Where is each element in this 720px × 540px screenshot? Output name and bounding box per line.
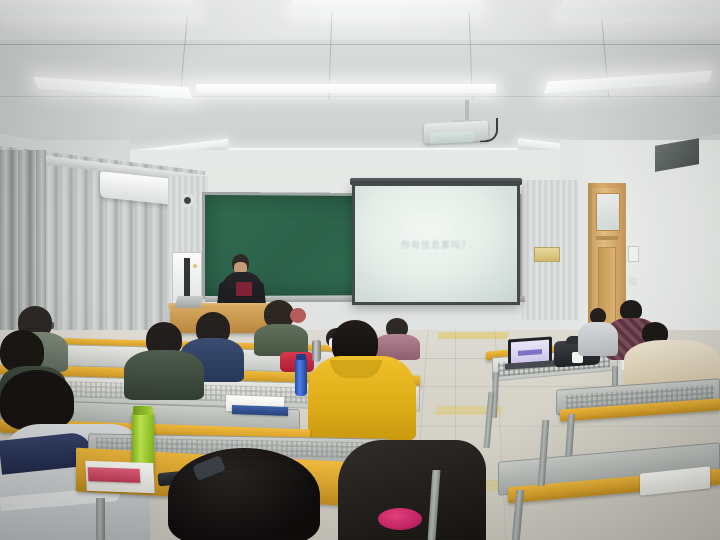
- desk-leg: [96, 498, 105, 540]
- student-head: [0, 370, 74, 430]
- projection-screen: 你有信息素吗？: [352, 183, 520, 305]
- bottle-cap: [296, 354, 306, 360]
- podium-laptop: [175, 296, 204, 308]
- camera-lens-icon: [184, 197, 191, 204]
- ceiling-grid-line: [0, 96, 720, 97]
- ceiling-lamp: [292, 0, 482, 12]
- glasses-icon: [34, 322, 54, 329]
- student-head: [620, 300, 642, 320]
- floor-accent-tile: [437, 332, 510, 339]
- classroom-photo: 你有信息素吗？: [0, 0, 720, 540]
- ceiling-lamp: [0, 0, 199, 16]
- bottle-cap: [133, 406, 153, 415]
- ceiling-lamp: [196, 84, 496, 93]
- student-jacket: [124, 350, 204, 400]
- ceiling-lamp: [557, 0, 720, 18]
- grey-bottle: [312, 340, 321, 362]
- wall-sign: [534, 247, 560, 262]
- slide-text: 你有信息素吗？: [401, 238, 471, 251]
- pink-round-item: [378, 508, 422, 530]
- light-switch[interactable]: [628, 246, 639, 262]
- notebook: [232, 405, 288, 416]
- pink-notebook: [88, 467, 141, 483]
- blue-water-bottle: [295, 358, 307, 396]
- projector-lens: [430, 131, 474, 144]
- equipment-led-icon: [193, 264, 197, 268]
- door-rail: [596, 236, 618, 240]
- door-window: [596, 193, 620, 231]
- student-head: [168, 448, 320, 540]
- wall-hook-icon: [629, 277, 637, 286]
- student-head: [290, 308, 306, 323]
- ceiling-grid-line: [0, 44, 720, 45]
- student-grey-top: [578, 322, 618, 356]
- lecturer-shirt-graphic: [236, 282, 252, 296]
- projector-mount: [465, 100, 469, 122]
- projection-screen-surface: 你有信息素吗？: [355, 186, 517, 302]
